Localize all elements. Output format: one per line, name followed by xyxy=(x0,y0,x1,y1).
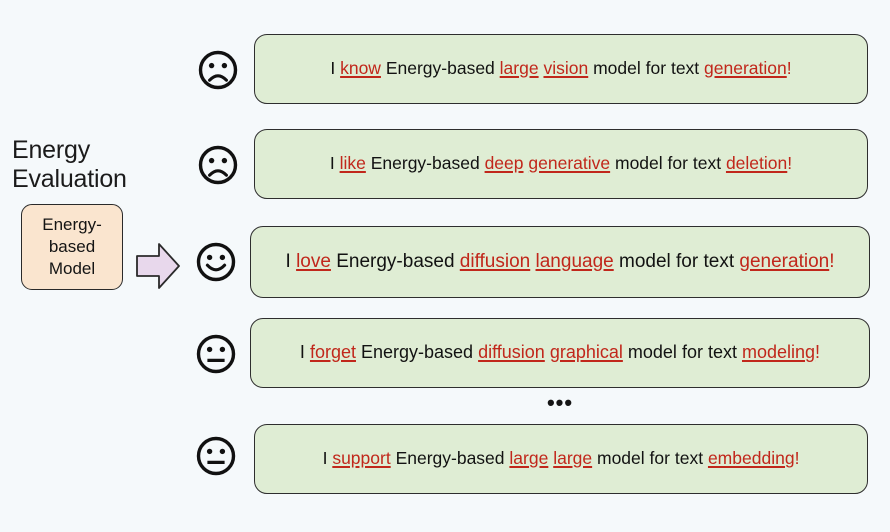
sentence-token: model xyxy=(593,58,641,78)
sentence-token: large xyxy=(509,448,548,468)
sentence-token: text xyxy=(675,448,703,468)
sentence-token: I xyxy=(330,153,335,173)
sentence-token: like xyxy=(340,153,366,173)
sentence-token: ! xyxy=(787,153,792,173)
sentence-token: for xyxy=(676,251,698,272)
sentence-token: for xyxy=(646,58,666,78)
sentence-token: deep xyxy=(485,153,524,173)
sentence-token: modeling xyxy=(742,342,815,362)
sentence-text: I support Energy-based large large model… xyxy=(323,449,800,468)
sentence-token: model xyxy=(628,342,677,362)
sentence-token: language xyxy=(536,251,614,272)
sentence-token: text xyxy=(708,342,737,362)
panel-title: Energy Evaluation xyxy=(8,136,188,194)
sentence-token: ! xyxy=(815,342,820,362)
right-arrow-icon xyxy=(133,238,183,294)
sentence-token: forget xyxy=(310,342,356,362)
sentence-text: I know Energy-based large vision model f… xyxy=(330,59,791,78)
sentence-token: embedding xyxy=(708,448,795,468)
sentence-bubble: I know Energy-based large vision model f… xyxy=(254,34,868,104)
neutral-face-icon xyxy=(194,332,238,376)
model-box-line-3: Model xyxy=(49,258,95,280)
sentence-text: I love Energy-based diffusion language m… xyxy=(286,252,835,273)
sentence-token: support xyxy=(332,448,390,468)
sentence-token: Energy-based xyxy=(371,153,480,173)
sentence-token: vision xyxy=(543,58,588,78)
sentence-token: Energy-based xyxy=(386,58,495,78)
sentence-bubble: I love Energy-based diffusion language m… xyxy=(250,226,870,298)
sentence-bubble: I like Energy-based deep generative mode… xyxy=(254,129,868,199)
sentence-token: I xyxy=(330,58,335,78)
sentence-text: I forget Energy-based diffusion graphica… xyxy=(300,343,820,363)
sentence-bubble: I support Energy-based large large model… xyxy=(254,424,868,494)
panel-title-line-2: Evaluation xyxy=(12,165,188,194)
sentence-token: for xyxy=(668,153,688,173)
frowning-face-icon xyxy=(196,48,240,92)
sentence-token: text xyxy=(693,153,721,173)
sentence-token: graphical xyxy=(550,342,623,362)
sentence-token: generative xyxy=(528,153,610,173)
sentence-token: model xyxy=(619,251,671,272)
sentence-token: ! xyxy=(829,251,834,272)
sentence-token: diffusion xyxy=(478,342,545,362)
frowning-face-icon xyxy=(196,143,240,187)
sentence-token: model xyxy=(597,448,645,468)
sentence-token: ! xyxy=(787,58,792,78)
sentence-token: know xyxy=(340,58,381,78)
sentence-token: Energy-based xyxy=(336,251,454,272)
sentence-token: diffusion xyxy=(460,251,530,272)
ellipsis-separator: ••• xyxy=(250,392,870,414)
sentence-token: I xyxy=(300,342,305,362)
sentence-token: Energy-based xyxy=(396,448,505,468)
sentence-token: model xyxy=(615,153,663,173)
sentence-token: for xyxy=(650,448,670,468)
model-box-line-1: Energy- xyxy=(42,214,102,236)
panel-title-line-1: Energy xyxy=(12,136,188,165)
energy-based-model-box: Energy- based Model xyxy=(21,204,123,290)
figure-canvas: Energy Evaluation Energy- based Model I … xyxy=(0,0,890,532)
sentence-token: text xyxy=(671,58,699,78)
smiling-face-icon xyxy=(194,240,238,284)
neutral-face-icon xyxy=(194,434,238,478)
sentence-token: Energy-based xyxy=(361,342,473,362)
sentence-token: for xyxy=(682,342,703,362)
sentence-token: love xyxy=(296,251,331,272)
model-box-line-2: based xyxy=(49,236,95,258)
sentence-token: I xyxy=(286,251,291,272)
sentence-token: text xyxy=(704,251,735,272)
sentence-text: I like Energy-based deep generative mode… xyxy=(330,154,792,173)
sentence-token: ! xyxy=(795,448,800,468)
sentence-token: generation xyxy=(739,251,829,272)
sentence-bubble: I forget Energy-based diffusion graphica… xyxy=(250,318,870,388)
sentence-token: I xyxy=(323,448,328,468)
sentence-token: deletion xyxy=(726,153,787,173)
sentence-token: generation xyxy=(704,58,787,78)
sentence-token: large xyxy=(553,448,592,468)
sentence-token: large xyxy=(500,58,539,78)
